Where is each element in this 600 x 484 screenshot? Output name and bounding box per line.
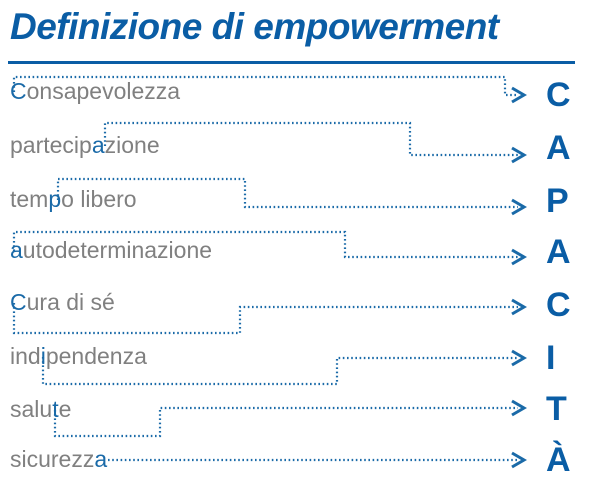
term-suffix: ura di sé <box>27 289 115 315</box>
term-highlight-letter: p <box>48 186 61 212</box>
connector-path-7 <box>55 408 518 436</box>
term-suffix: pendenza <box>46 343 147 369</box>
term-label: tempo libero <box>10 188 137 211</box>
term-highlight-letter: a <box>10 237 23 263</box>
term-label: sicurezza <box>10 448 107 471</box>
term-label: Consapevolezza <box>10 80 180 103</box>
slide-canvas: Definizione di empowerment Consapevolezz… <box>0 0 600 484</box>
acronym-letter: A <box>546 131 571 165</box>
term-label: Cura di sé <box>10 291 115 314</box>
acronym-letter: A <box>546 235 571 269</box>
arrow-head-icon-4 <box>512 250 524 264</box>
term-prefix: partecip <box>10 132 92 158</box>
term-label: partecipazione <box>10 134 160 157</box>
term-prefix: tem <box>10 186 48 212</box>
term-highlight-letter: C <box>10 78 27 104</box>
acronym-letter: C <box>546 288 571 322</box>
term-highlight-letter: C <box>10 289 27 315</box>
term-prefix: ind <box>10 343 41 369</box>
term-suffix: utodeterminazione <box>23 237 212 263</box>
term-label: autodeterminazione <box>10 239 212 262</box>
term-highlight-letter: a <box>94 446 107 472</box>
arrow-head-icon-8 <box>512 453 524 467</box>
acronym-letter: C <box>546 78 571 112</box>
arrow-head-icon-5 <box>512 300 524 314</box>
term-highlight-letter: a <box>92 132 105 158</box>
term-label: salute <box>10 398 71 421</box>
arrow-head-icon-7 <box>512 401 524 415</box>
term-prefix: sicurezz <box>10 446 94 472</box>
term-suffix: o libero <box>61 186 136 212</box>
connector-path-2 <box>105 123 518 155</box>
arrow-head-icon-3 <box>512 200 524 214</box>
term-label: indipendenza <box>10 345 147 368</box>
acronym-letter: P <box>546 184 569 218</box>
title-divider <box>8 61 575 64</box>
acronym-letter: À <box>546 443 571 477</box>
term-suffix: onsapevolezza <box>27 78 180 104</box>
arrow-head-icon-2 <box>512 148 524 162</box>
acronym-letter: I <box>546 341 555 375</box>
acronym-letter: T <box>546 392 567 426</box>
term-prefix: salu <box>10 396 52 422</box>
term-suffix: zione <box>105 132 160 158</box>
arrow-head-icon-6 <box>512 351 524 365</box>
term-suffix: e <box>59 396 72 422</box>
arrow-head-icon-1 <box>512 88 524 102</box>
page-title: Definizione di empowerment <box>10 6 499 48</box>
